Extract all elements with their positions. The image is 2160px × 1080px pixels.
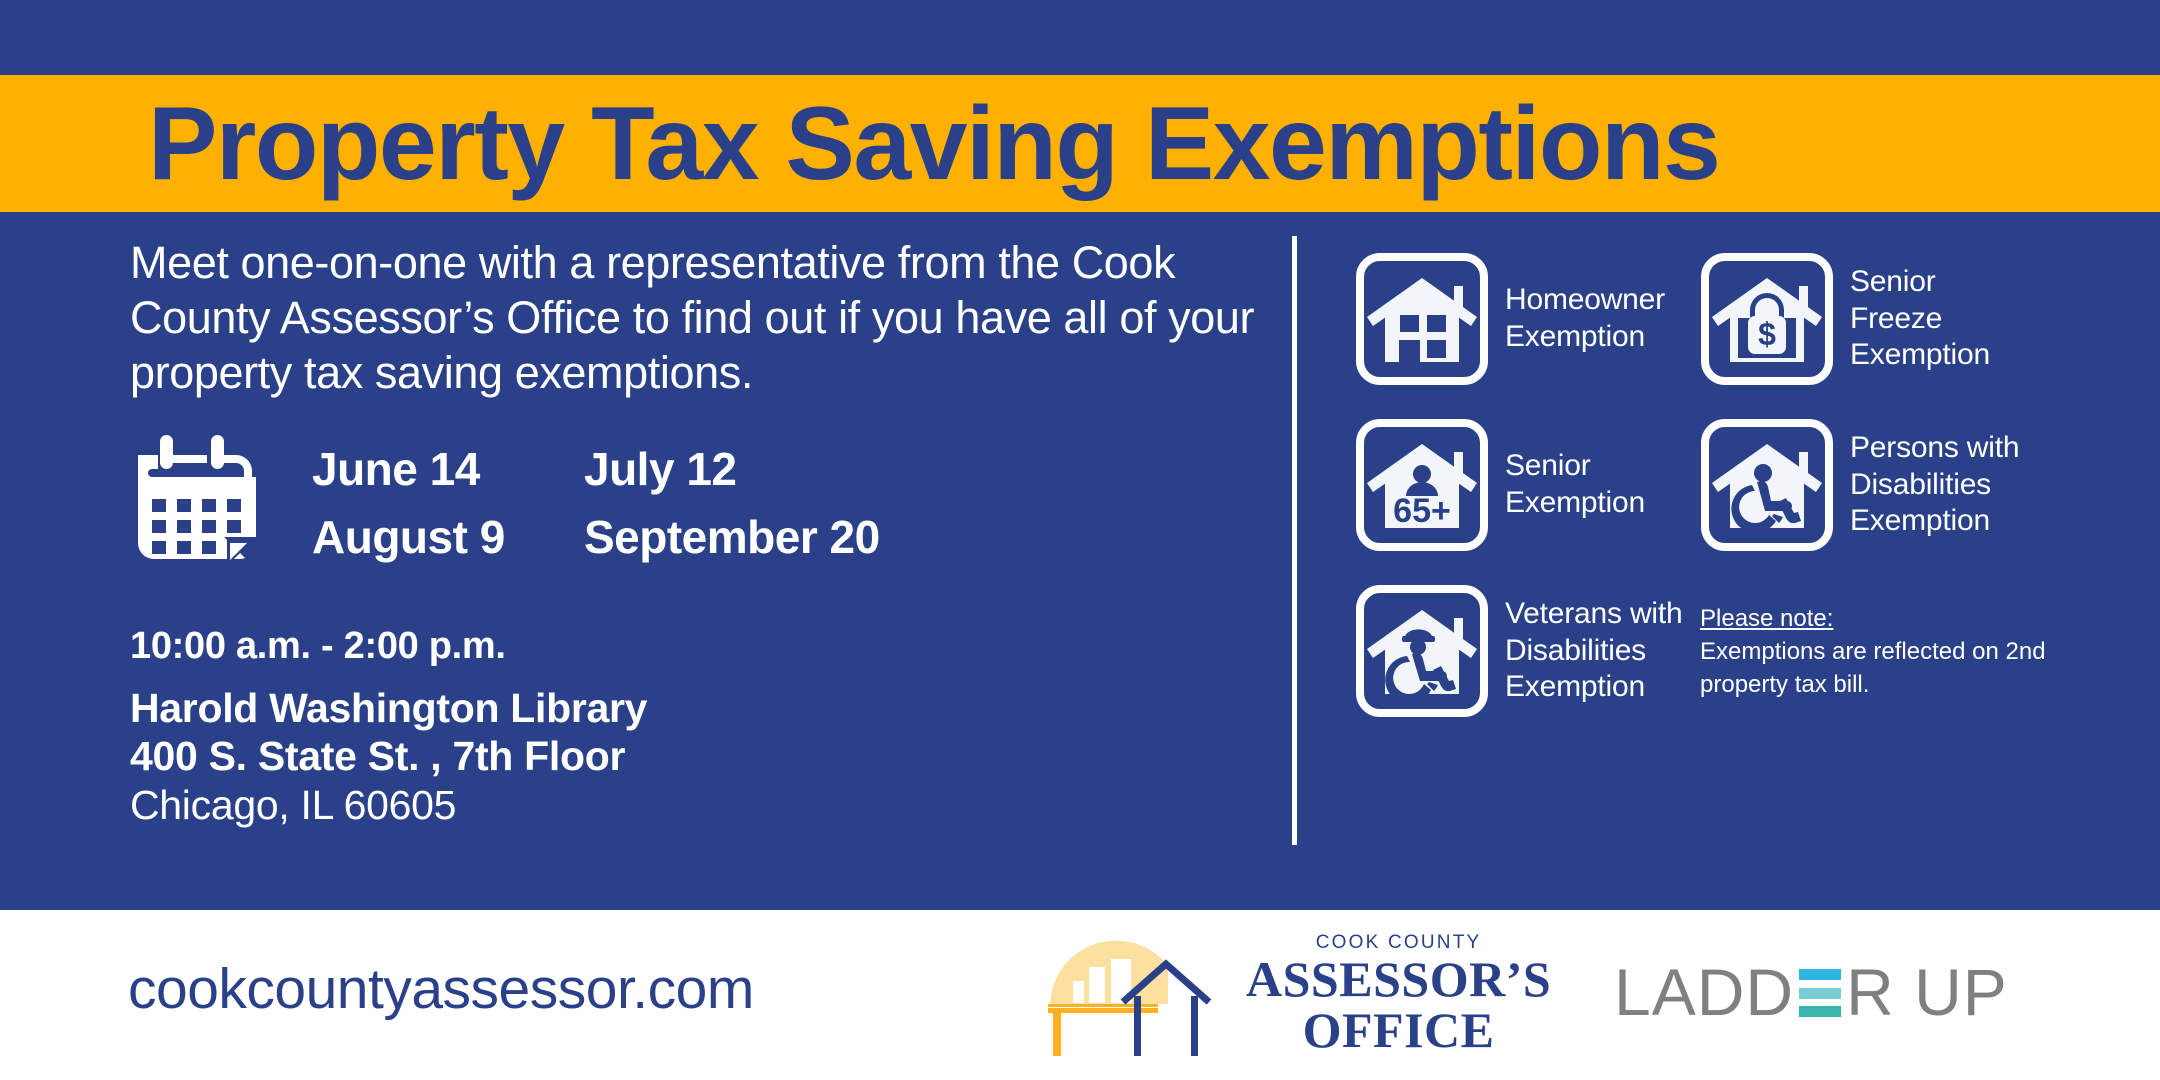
exemption-row-2: 65+ Senior Exemption: [1355, 418, 2115, 552]
exemption-row-3: Veterans with Disabilities Exemption Ple…: [1355, 584, 2115, 718]
intro-paragraph: Meet one-on-one with a representative fr…: [130, 236, 1270, 401]
poster-canvas: Property Tax Saving Exemptions Meet one-…: [0, 0, 2160, 1080]
event-time: 10:00 a.m. - 2:00 p.m.: [130, 625, 1270, 668]
date-item-3: August 9: [312, 510, 584, 564]
website-url[interactable]: cookcountyassessor.com: [128, 956, 754, 1022]
assessor-line-office: OFFICE: [1246, 1005, 1551, 1056]
date-item-1: June 14: [312, 442, 584, 496]
please-note-heading: Please note:: [1700, 602, 2115, 635]
ladder-up-text-after: R UP: [1846, 954, 2008, 1030]
exemptions-panel: Homeowner Exemption: [1355, 252, 2115, 750]
exemption-item-senior-freeze: $ Senior Freeze Exemption: [1700, 252, 2045, 386]
assessor-line-assessors: ASSESSOR’S: [1246, 954, 1551, 1005]
exemption-label-senior-freeze: Senior Freeze Exemption: [1850, 264, 1990, 374]
please-note-body: Exemptions are reflected on 2nd property…: [1700, 638, 2046, 698]
house-lock-dollar-icon: $: [1700, 252, 1834, 386]
calendar-icon: [130, 433, 270, 573]
exemption-label-veterans: Veterans with Disabilities Exemption: [1505, 596, 1683, 706]
house-65plus-icon: 65+: [1355, 418, 1489, 552]
house-wheelchair-icon: [1700, 418, 1834, 552]
exemption-label-senior: Senior Exemption: [1505, 448, 1645, 521]
exemption-label-homeowner: Homeowner Exemption: [1505, 282, 1665, 355]
date-item-4: September 20: [584, 510, 880, 564]
svg-text:65+: 65+: [1393, 492, 1451, 530]
house-icon: [1355, 252, 1489, 386]
exemption-row-1: Homeowner Exemption: [1355, 252, 2115, 386]
ladder-e-bars-icon: [1799, 969, 1841, 1017]
please-note-block: Please note: Exemptions are reflected on…: [1700, 584, 2115, 718]
page-title: Property Tax Saving Exemptions: [148, 92, 1719, 196]
svg-text:$: $: [1758, 316, 1776, 352]
house-veteran-wheelchair-icon: [1355, 584, 1489, 718]
event-city: Chicago, IL 60605: [130, 781, 1270, 830]
event-venue: Harold Washington Library: [130, 684, 1270, 733]
title-banner: Property Tax Saving Exemptions: [0, 75, 2160, 212]
event-address: 400 S. State St. , 7th Floor: [130, 732, 1270, 781]
ladder-up-logo: LADD R UP: [1614, 954, 2008, 1030]
vertical-divider: [1292, 236, 1297, 845]
assessor-wordmark: COOK COUNTY ASSESSOR’S OFFICE: [1246, 932, 1551, 1056]
exemption-item-disabilities: Persons with Disabilities Exemption: [1700, 418, 2060, 552]
assessor-house-mark-icon: [1028, 930, 1238, 1058]
ladder-up-text-before: LADD: [1614, 954, 1794, 1030]
dates-grid: June 14 July 12 August 9 September 20: [312, 442, 880, 564]
date-item-2: July 12: [584, 442, 880, 496]
assessor-office-logo: COOK COUNTY ASSESSOR’S OFFICE: [1028, 930, 1551, 1058]
left-content-column: Meet one-on-one with a representative fr…: [130, 236, 1270, 830]
exemption-label-disabilities: Persons with Disabilities Exemption: [1850, 430, 2019, 540]
footer-bar: cookcountyassessor.com: [0, 910, 2160, 1080]
dates-section: June 14 July 12 August 9 September 20: [130, 433, 1270, 573]
exemption-item-senior: 65+ Senior Exemption: [1355, 418, 1700, 552]
exemption-item-veterans: Veterans with Disabilities Exemption: [1355, 584, 1700, 718]
exemption-item-homeowner: Homeowner Exemption: [1355, 252, 1700, 386]
